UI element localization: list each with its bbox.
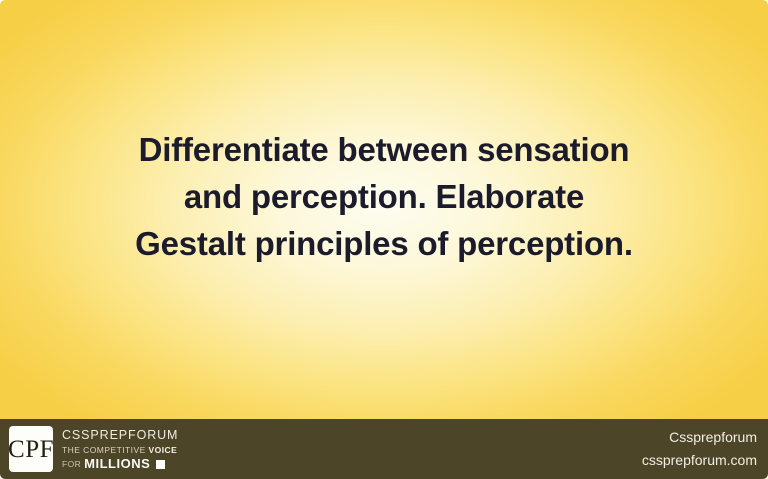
brand-wordmark: CSSPREPFORUM THE COMPETITIVE VOICE FOR M…	[62, 426, 178, 472]
question-slide: Differentiate between sensation and perc…	[0, 0, 768, 479]
footer-bar: CPF CSSPREPFORUM THE COMPETITIVE VOICE F…	[0, 419, 768, 479]
tagline-millions: MILLIONS	[84, 457, 150, 471]
question-area: Differentiate between sensation and perc…	[0, 0, 768, 419]
question-line-3: Gestalt principles of perception.	[135, 220, 633, 267]
tagline-the-competitive: THE COMPETITIVE	[62, 445, 149, 455]
site-name: Cssprepforum	[669, 430, 757, 445]
cpf-logo-mark: CPF	[9, 426, 53, 472]
brand-tagline-line-2: FOR MILLIONS	[62, 457, 178, 471]
question-line-1: Differentiate between sensation	[135, 126, 633, 173]
tagline-voice: VOICE	[149, 445, 178, 455]
question-line-2: and perception. Elaborate	[135, 173, 633, 220]
brand-tagline-line-1: THE COMPETITIVE VOICE	[62, 444, 178, 456]
brand-name: CSSPREPFORUM	[62, 428, 178, 443]
site-url[interactable]: cssprepforum.com	[642, 453, 757, 468]
brand-logo: CPF CSSPREPFORUM THE COMPETITIVE VOICE F…	[9, 426, 178, 472]
tagline-for: FOR	[62, 457, 81, 471]
cpf-monogram: CPF	[8, 437, 54, 462]
question-heading: Differentiate between sensation and perc…	[135, 126, 633, 267]
filled-square-icon	[156, 460, 165, 469]
site-info: Cssprepforum cssprepforum.com	[642, 430, 758, 468]
